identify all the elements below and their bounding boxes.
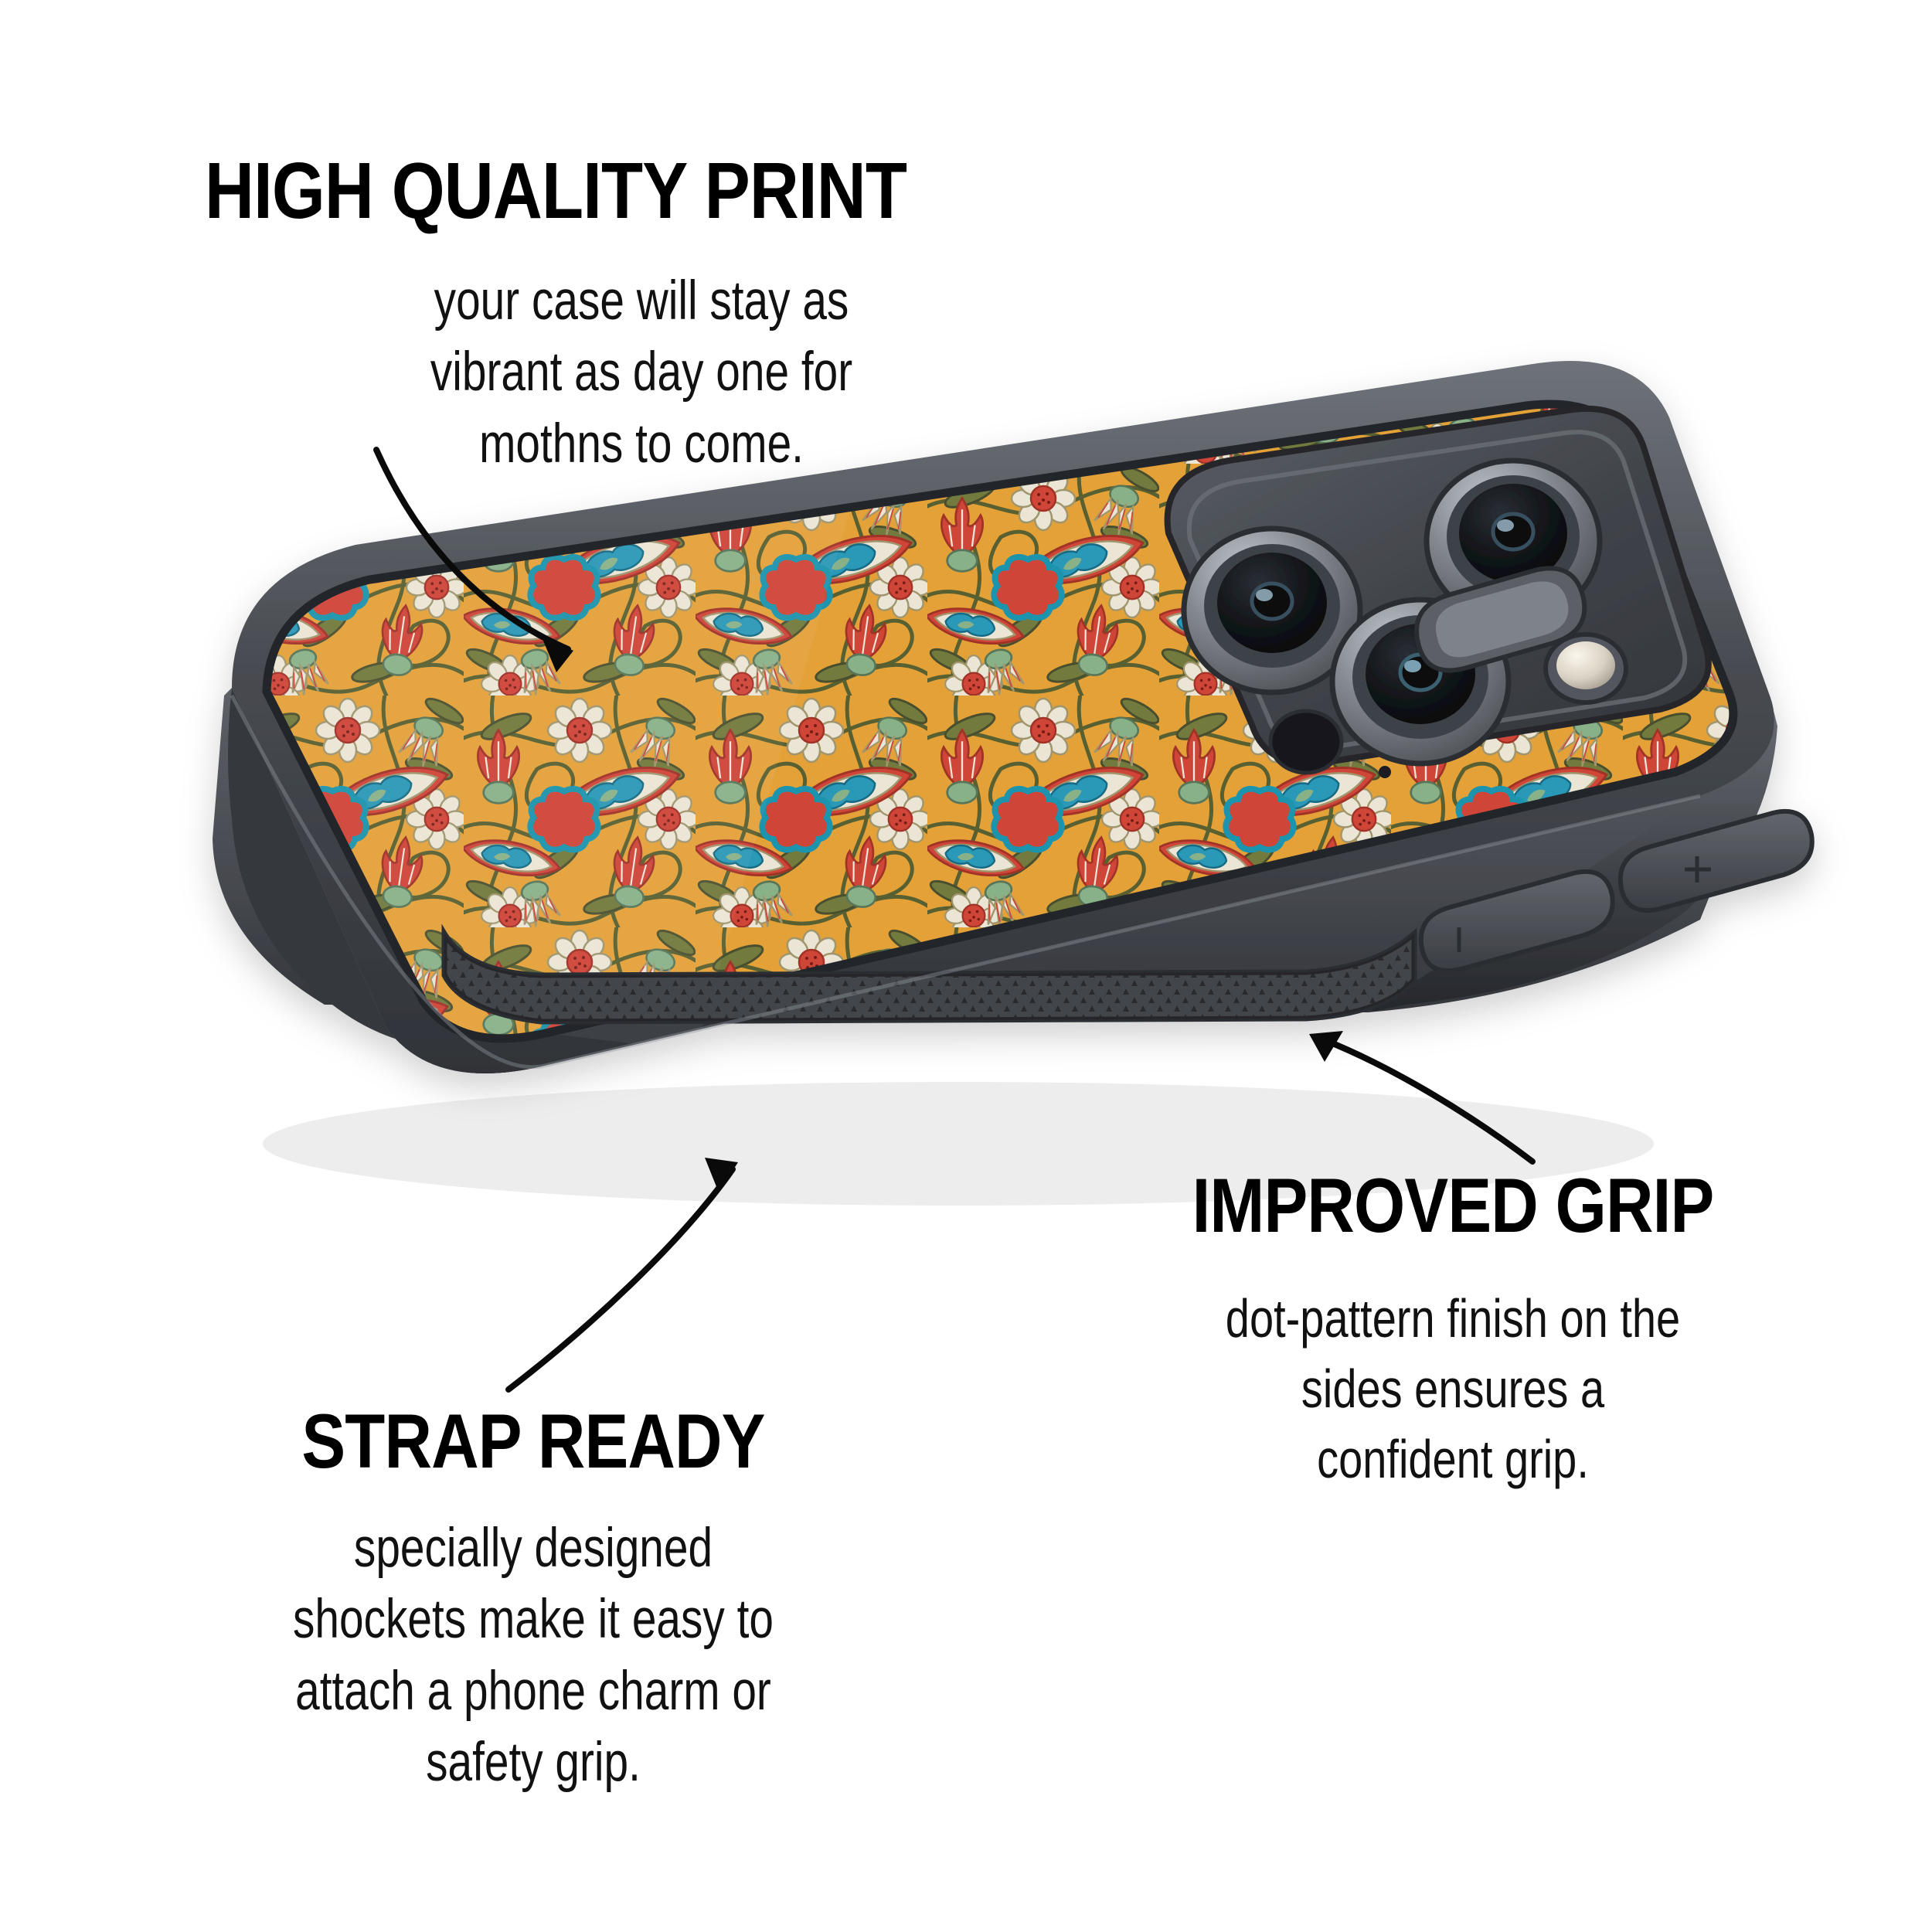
feature-title-strap-ready: STRAP READY — [194, 1403, 872, 1479]
arrow-strap-line — [509, 1169, 733, 1389]
feature-body-improved-grip: dot-pattern finish on the sides ensures … — [1150, 1284, 1756, 1495]
feature-high-quality-print: HIGH QUALITY PRINT your case will stay a… — [205, 151, 1132, 480]
microphone-hole — [1379, 766, 1391, 778]
infographic-canvas: HIGH QUALITY PRINT your case will stay a… — [0, 0, 1932, 1932]
feature-title-high-quality-print: HIGH QUALITY PRINT — [205, 151, 1002, 230]
feature-improved-grip: IMPROVED GRIP dot-pattern finish on the … — [1074, 1167, 1832, 1495]
feature-body-strap-ready: specially designed shockets make it easy… — [218, 1513, 849, 1798]
feature-body-high-quality-print: your case will stay as vibrant as day on… — [317, 266, 966, 480]
feature-strap-ready: STRAP READY specially designed shockets … — [139, 1403, 927, 1798]
lidar-sensor — [1270, 711, 1342, 773]
camera-flash — [1546, 634, 1626, 702]
feature-title-improved-grip: IMPROVED GRIP — [1128, 1167, 1779, 1243]
